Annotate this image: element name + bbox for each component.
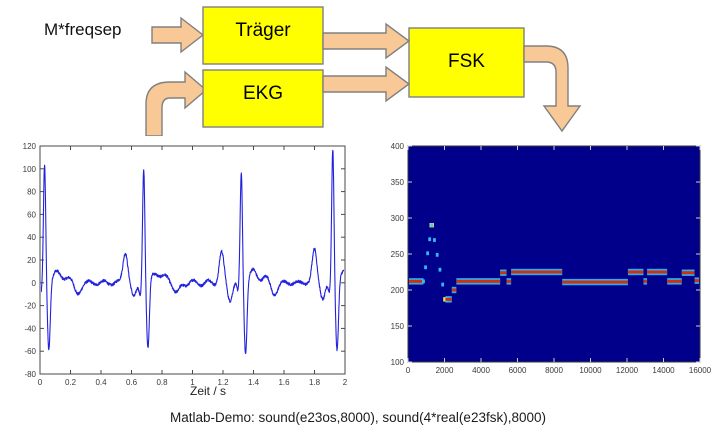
track-core	[408, 280, 424, 283]
input-arrow-freqsep	[152, 18, 203, 52]
spec-x-tick-label: 16000	[689, 366, 712, 375]
track-core	[667, 280, 682, 283]
track-core	[628, 271, 644, 274]
track-core	[562, 281, 628, 284]
track-core	[500, 271, 506, 274]
spec-y-tick-label: 350	[391, 178, 405, 187]
ecg-y-tick-label: -40	[24, 324, 36, 333]
arrow-traeger-to-fsk	[323, 24, 409, 58]
ecg-x-tick-label: 0	[38, 378, 43, 387]
output-arrow-fsk	[524, 46, 580, 131]
spec-y-tick-label: 250	[391, 250, 405, 259]
track-core	[507, 280, 512, 283]
spectrogram-graphics: 0200040006000800010000120001400016000100…	[380, 140, 712, 390]
arrow-ekg-to-fsk	[323, 67, 409, 101]
track-core	[643, 280, 647, 283]
spec-x-tick-label: 4000	[472, 366, 490, 375]
fsk-spectrogram-plot: 0200040006000800010000120001400016000100…	[380, 140, 712, 390]
matlab-demo-caption: Matlab-Demo: sound(e23os,8000), sound(4*…	[0, 410, 716, 425]
ecg-y-tick-label: 120	[23, 142, 37, 151]
track-core	[647, 271, 667, 274]
track-dot	[428, 237, 431, 241]
ecg-x-axis-title: Zeit / s	[68, 384, 348, 398]
track-core	[445, 298, 451, 301]
spec-y-tick-label: 200	[391, 286, 405, 295]
spec-x-tick-label: 10000	[579, 366, 602, 375]
track-dot	[441, 283, 444, 287]
spec-x-tick-label: 14000	[652, 366, 675, 375]
spec-x-tick-label: 6000	[509, 366, 527, 375]
ecg-y-tick-label: 0	[32, 279, 37, 288]
track-core	[511, 271, 562, 274]
input-signal-label: M*freqsep	[44, 20, 121, 40]
track-dot	[439, 268, 442, 272]
spec-y-tick-label: 300	[391, 214, 405, 223]
track-core	[682, 271, 695, 274]
track-core	[452, 289, 457, 292]
ecg-y-tick-label: 60	[27, 210, 36, 219]
spectrogram-canvas	[408, 146, 700, 362]
block-label-fsk: FSK	[410, 51, 523, 73]
spec-x-tick-label: 8000	[545, 366, 563, 375]
spec-y-tick-label: 400	[391, 142, 405, 151]
track-dot	[424, 265, 427, 269]
block-label-ekg: EKG	[204, 83, 322, 105]
ecg-y-tick-label: -60	[24, 347, 36, 356]
track-dot	[436, 253, 439, 257]
signal-flow-diagram: M*freqsep Träger EKG FSK	[0, 0, 716, 136]
ecg-y-tick-label: -80	[24, 370, 36, 379]
ecg-y-tick-label: 80	[27, 188, 36, 197]
ecg-y-tick-label: 40	[27, 233, 36, 242]
feedback-arrow-to-ekg	[146, 72, 206, 136]
ecg-plot-frame	[40, 146, 345, 374]
ecg-plot-graphics: 00.20.40.60.811.21.41.61.82-80-60-40-200…	[8, 140, 356, 400]
ecg-y-tick-label: -20	[24, 302, 36, 311]
ecg-time-plot: 00.20.40.60.811.21.41.61.82-80-60-40-200…	[8, 140, 356, 400]
ecg-y-tick-label: 20	[27, 256, 36, 265]
track-dot	[433, 238, 436, 242]
spec-y-tick-label: 150	[391, 322, 405, 331]
spec-x-tick-label: 0	[406, 366, 411, 375]
spec-x-tick-label: 2000	[436, 366, 454, 375]
ecg-y-tick-label: 100	[23, 165, 37, 174]
track-core	[456, 280, 500, 283]
block-label-traeger: Träger	[204, 20, 322, 42]
track-dot	[422, 279, 425, 283]
spec-y-tick-label: 100	[391, 358, 405, 367]
track-dot	[426, 251, 429, 255]
spec-x-tick-label: 12000	[616, 366, 639, 375]
track-dot	[430, 223, 433, 227]
